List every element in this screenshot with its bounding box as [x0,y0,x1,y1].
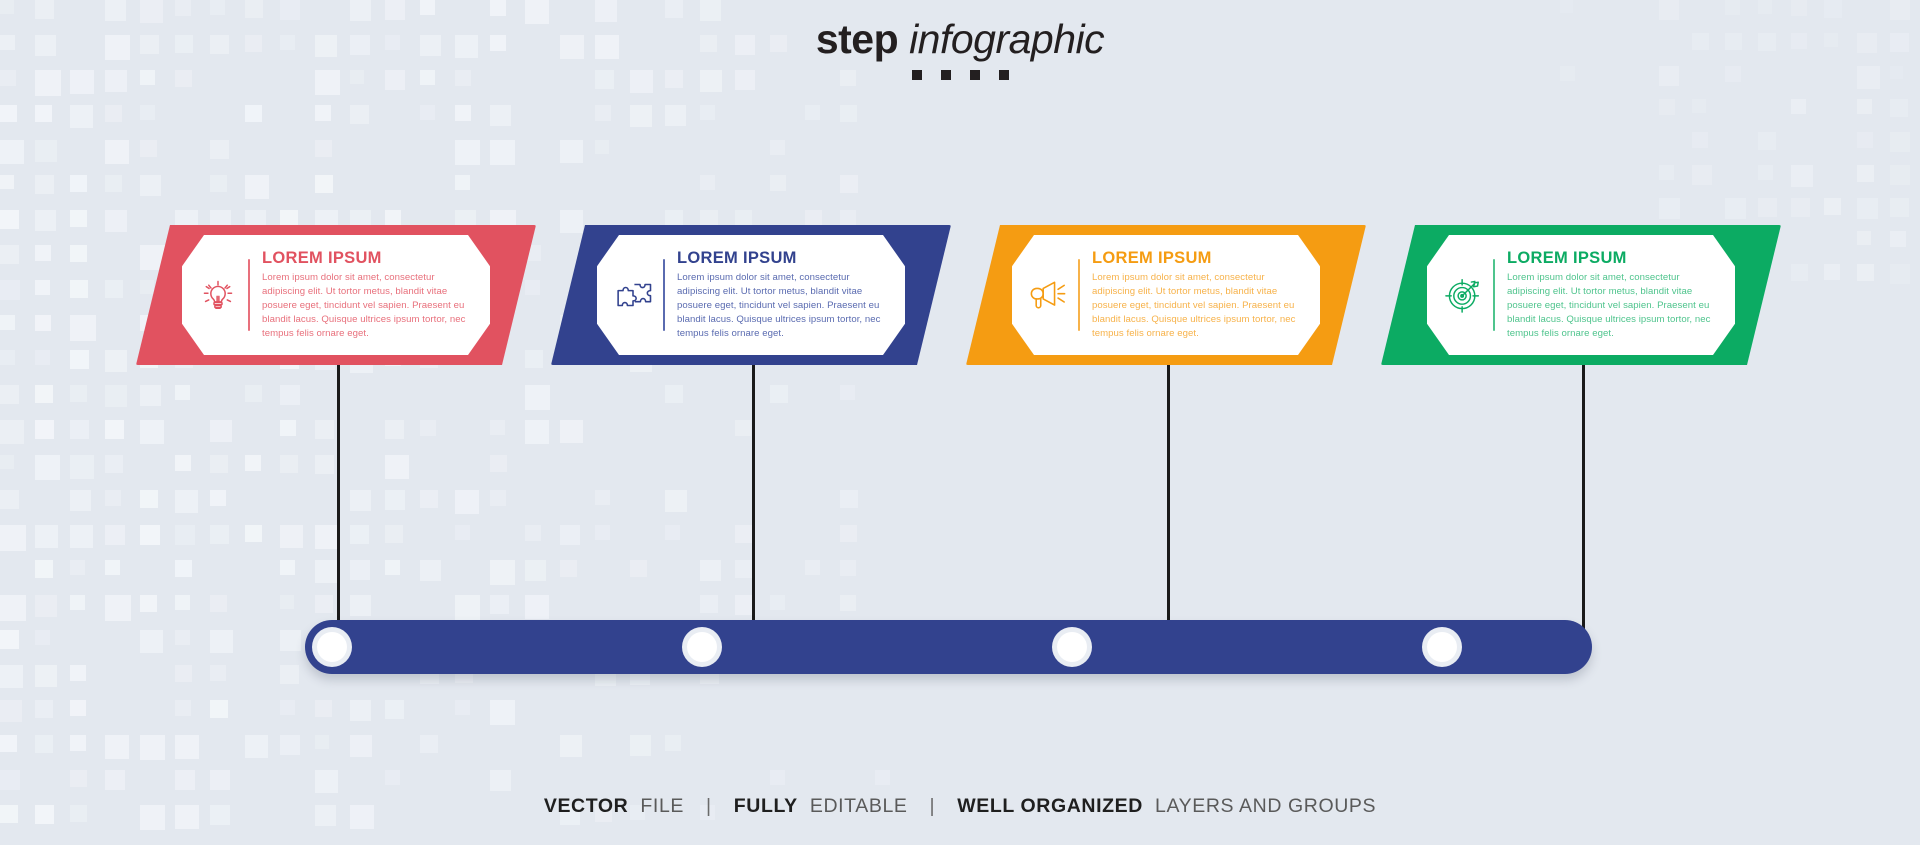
mosaic-square [840,175,858,193]
mosaic-square [35,280,50,295]
mosaic-square [105,490,121,506]
mosaic-square [35,175,54,194]
title-dot [999,70,1009,80]
mosaic-square [35,525,58,548]
mosaic-square [0,140,24,164]
mosaic-square [175,490,198,513]
mosaic-square [105,595,131,621]
mosaic-square [105,525,125,545]
mosaic-square [490,140,515,165]
footer-credits: VECTOR FILE | FULLY EDITABLE | WELL ORGA… [0,795,1920,818]
mosaic-square [105,350,127,372]
mosaic-square [140,420,164,444]
mosaic-square [0,595,26,621]
mosaic-square [35,315,51,331]
connector-line [337,365,340,635]
mosaic-square [1857,198,1878,219]
step-divider [248,259,250,331]
mosaic-square [595,105,611,121]
mosaic-square [70,385,87,402]
mosaic-square [0,245,19,264]
mosaic-square [210,420,232,442]
mosaic-square [1659,198,1680,219]
mosaic-square [315,595,333,613]
step-text-block: LOREM IPSUMLorem ipsum dolor sit amet, c… [677,249,891,342]
mosaic-square [70,700,86,716]
mosaic-square [315,175,333,193]
timeline-node-2[interactable] [687,632,717,662]
mosaic-square [175,735,199,759]
mosaic-square [455,175,470,190]
footer-organized-light: LAYERS AND GROUPS [1155,795,1376,817]
mosaic-square [595,490,610,505]
mosaic-square [1890,198,1909,217]
mosaic-square [350,525,369,544]
mosaic-square [70,210,87,227]
mosaic-square [735,525,753,543]
mosaic-square [525,595,549,619]
mosaic-square [1758,0,1772,14]
step-text-block: LOREM IPSUMLorem ipsum dolor sit amet, c… [1507,249,1721,342]
mosaic-square [35,245,51,261]
mosaic-square [1758,132,1776,150]
step-card-4[interactable]: LOREM IPSUMLorem ipsum dolor sit amet, c… [1381,225,1781,365]
mosaic-square [735,420,751,436]
step-divider [1078,259,1080,331]
mosaic-square [490,770,511,791]
mosaic-square [140,105,155,120]
mosaic-square [455,595,480,620]
step-title: LOREM IPSUM [677,249,887,268]
mosaic-square [280,455,298,473]
mosaic-square [35,455,60,480]
mosaic-square [70,455,94,479]
mosaic-square [35,0,54,19]
mosaic-square [665,385,683,403]
footer-fully-bold: FULLY [734,795,798,817]
mosaic-square [210,490,226,506]
title-italic: infographic [909,16,1104,62]
timeline-node-1[interactable] [317,632,347,662]
mosaic-square [315,140,332,157]
mosaic-square [35,630,50,645]
mosaic-square [70,770,87,787]
mosaic-square [210,455,228,473]
mosaic-square [665,525,680,540]
timeline-node-3[interactable] [1057,632,1087,662]
mosaic-square [0,315,15,330]
mosaic-square [455,490,479,514]
mosaic-square [280,630,301,651]
mosaic-square [770,770,785,785]
mosaic-square [455,140,480,165]
mosaic-square [1791,264,1808,281]
step-content-panel: LOREM IPSUMLorem ipsum dolor sit amet, c… [1427,235,1735,355]
mosaic-square [770,140,785,155]
step-description: Lorem ipsum dolor sit amet, consectetur … [262,271,472,342]
mosaic-square [210,630,233,653]
mosaic-square [0,175,14,189]
mosaic-square [35,385,53,403]
mosaic-square [140,490,158,508]
mosaic-square [315,105,331,121]
mosaic-square [245,455,261,471]
mosaic-square [350,700,371,721]
mosaic-square [280,420,296,436]
mosaic-square [175,770,195,790]
mosaic-square [420,420,436,436]
mosaic-square [35,735,53,753]
mosaic-square [105,280,123,298]
mosaic-square [490,455,507,472]
puzzle-piece-icon [607,269,659,321]
mosaic-square [1857,99,1872,114]
mosaic-square [280,665,299,684]
mosaic-square [525,385,550,410]
mosaic-square [210,175,227,192]
mosaic-square [0,455,14,469]
mosaic-square [420,0,435,15]
footer-separator-2: | [914,795,952,818]
mosaic-square [1890,132,1910,152]
footer-vector-light: FILE [640,795,684,817]
mosaic-square [70,595,85,610]
mosaic-square [210,595,227,612]
mosaic-square [840,490,858,508]
mosaic-square [455,700,470,715]
mosaic-square [385,770,400,785]
mosaic-square [210,700,228,718]
mosaic-square [840,595,856,611]
mosaic-square [1659,165,1674,180]
mosaic-square [420,735,438,753]
mosaic-square [1659,99,1675,115]
mosaic-square [1692,132,1708,148]
mosaic-square [0,105,17,122]
mosaic-square [1758,198,1777,217]
mosaic-square [175,665,192,682]
mosaic-square [0,700,22,722]
mosaic-square [35,420,54,439]
title-dot [970,70,980,80]
mosaic-square [595,525,610,540]
mosaic-square [1857,165,1874,182]
step-card-3[interactable]: LOREM IPSUMLorem ipsum dolor sit amet, c… [966,225,1366,365]
target-arrow-icon [1437,269,1489,321]
step-content-panel: LOREM IPSUMLorem ipsum dolor sit amet, c… [1012,235,1320,355]
mosaic-square [1692,99,1706,113]
mosaic-square [245,175,269,199]
connector-line [752,365,755,635]
mosaic-square [70,350,89,369]
mosaic-square [630,560,647,577]
mosaic-square [140,140,157,157]
mosaic-square [385,490,405,510]
mosaic-square [420,560,441,581]
mosaic-square [1725,0,1740,15]
mosaic-square [140,525,160,545]
mosaic-square [105,420,124,439]
mosaic-square [525,420,549,444]
mosaic-square [630,735,651,756]
mosaic-square [0,0,14,14]
mosaic-square [560,560,577,577]
mosaic-square [490,105,511,126]
infographic-canvas: step infographic LOREM IPSUMLorem ipsum … [0,0,1920,845]
mosaic-square [210,140,229,159]
mosaic-square [70,665,86,681]
mosaic-square [525,560,546,581]
mosaic-square [0,280,20,300]
mosaic-square [35,140,57,162]
mosaic-square [35,105,52,122]
mosaic-square [1890,0,1910,20]
mosaic-square [70,490,91,511]
mosaic-square [420,105,435,120]
step-description: Lorem ipsum dolor sit amet, consectetur … [1507,271,1717,342]
mosaic-square [140,735,165,760]
mosaic-square [70,315,96,341]
mosaic-square [1857,132,1873,148]
mosaic-square [840,210,856,226]
title-dot [941,70,951,80]
mosaic-square [350,560,370,580]
mosaic-square [490,560,515,585]
footer-fully-light: EDITABLE [810,795,908,817]
mosaic-square [140,595,157,612]
mosaic-background-left [0,0,1000,845]
mosaic-square [1857,264,1874,281]
mosaic-square [175,455,191,471]
footer-organized-bold: WELL ORGANIZED [957,795,1143,817]
mosaic-square [0,385,19,404]
mosaic-square [280,0,300,20]
mosaic-square [1725,198,1746,219]
mosaic-square [175,630,190,645]
step-description: Lorem ipsum dolor sit amet, consectetur … [1092,271,1302,342]
mosaic-square [0,420,24,444]
step-title: LOREM IPSUM [1507,249,1717,268]
mosaic-square [315,770,338,793]
mosaic-square [245,735,268,758]
title-strong: step [816,16,898,62]
mosaic-square [70,525,93,548]
step-title: LOREM IPSUM [262,249,472,268]
connector-line [1167,365,1170,635]
mosaic-square [105,560,120,575]
lightbulb-icon [192,269,244,321]
mosaic-square [210,0,225,15]
mosaic-square [140,630,163,653]
mosaic-square [280,560,295,575]
mosaic-square [105,175,122,192]
mosaic-square [0,350,15,365]
mosaic-square [1758,165,1773,180]
step-content-panel: LOREM IPSUMLorem ipsum dolor sit amet, c… [182,235,490,355]
mosaic-square [490,420,505,435]
mosaic-square [455,105,471,121]
mosaic-square [560,735,582,757]
mosaic-square [0,630,19,649]
mosaic-square [700,560,721,581]
mosaic-square [175,560,192,577]
mosaic-square [700,175,715,190]
mosaic-square [105,140,129,164]
mosaic-square [735,560,753,578]
mosaic-square [840,560,856,576]
mosaic-square [280,525,303,548]
mosaic-square [70,245,87,262]
mosaic-square [35,700,53,718]
mosaic-square [105,770,125,790]
mosaic-square [315,560,338,583]
mosaic-square [0,770,20,790]
mosaic-square [1560,0,1573,13]
step-title: LOREM IPSUM [1092,249,1302,268]
mosaic-square [805,105,820,120]
mosaic-square [35,595,57,617]
mosaic-square [175,595,190,610]
mosaic-square [35,560,53,578]
mosaic-square [385,210,401,226]
mosaic-square [560,140,583,163]
mosaic-square [105,455,123,473]
mosaic-square [280,735,300,755]
mosaic-square [210,665,226,681]
mosaic-square [140,175,161,196]
mosaic-square [35,350,50,365]
mosaic-square [490,490,506,506]
step-card-1[interactable]: LOREM IPSUMLorem ipsum dolor sit amet, c… [136,225,536,365]
mosaic-square [315,455,334,474]
mosaic-square [665,0,683,18]
mosaic-square [350,490,371,511]
mosaic-square [1890,231,1906,247]
mosaic-square [1824,198,1841,215]
mosaic-square [1824,264,1840,280]
mosaic-square [385,560,400,575]
mosaic-square [315,700,332,717]
megaphone-icon [1022,269,1074,321]
mosaic-square [280,595,294,609]
mosaic-square [1791,99,1806,114]
mosaic-square [315,420,334,439]
mosaic-square [35,665,57,687]
mosaic-square [1857,231,1871,245]
mosaic-square [1890,99,1908,117]
mosaic-square [70,280,88,298]
mosaic-square [350,735,372,757]
mosaic-square [665,490,687,512]
mosaic-square [560,420,583,443]
timeline-bar [305,620,1592,674]
mosaic-square [490,700,515,725]
mosaic-square [210,770,230,790]
mosaic-square [35,210,56,231]
footer-separator-1: | [690,795,728,818]
mosaic-square [1791,0,1807,16]
mosaic-square [70,735,86,751]
mosaic-square [770,385,788,403]
mosaic-square [0,665,23,688]
mosaic-square [665,105,686,126]
mosaic-square [665,735,681,751]
mosaic-square [280,700,295,715]
mosaic-square [875,770,890,785]
mosaic-square [840,525,857,542]
mosaic-square [385,455,409,479]
timeline-node-4[interactable] [1427,632,1457,662]
mosaic-square [70,560,85,575]
mosaic-square [210,525,229,544]
mosaic-square [280,385,300,405]
mosaic-square [1791,165,1813,187]
step-card-2[interactable]: LOREM IPSUMLorem ipsum dolor sit amet, c… [551,225,951,365]
mosaic-square [595,140,609,154]
mosaic-square [700,105,715,120]
step-divider [1493,259,1495,331]
mosaic-square [770,175,786,191]
mosaic-square [0,735,17,752]
mosaic-square [770,595,785,610]
mosaic-square [385,420,404,439]
mosaic-square [700,595,718,613]
mosaic-square [175,525,195,545]
step-content-panel: LOREM IPSUMLorem ipsum dolor sit amet, c… [597,235,905,355]
mosaic-square [245,0,263,18]
step-text-block: LOREM IPSUMLorem ipsum dolor sit amet, c… [262,249,476,342]
mosaic-square [385,525,403,543]
mosaic-square [105,210,127,232]
mosaic-square [385,700,404,719]
mosaic-square [175,0,191,16]
mosaic-square [420,490,438,508]
mosaic-square [105,105,122,122]
mosaic-square [560,525,580,545]
mosaic-square [105,735,129,759]
mosaic-square [805,560,820,575]
mosaic-square [70,105,93,128]
title-dot [912,70,922,80]
mosaic-square [0,490,19,509]
mosaic-square [70,175,87,192]
mosaic-square [630,105,652,127]
mosaic-square [70,420,89,439]
connector-line [1582,365,1585,635]
mosaic-square [0,210,19,229]
mosaic-square [525,525,541,541]
mosaic-square [350,105,369,124]
mosaic-square [1824,0,1842,18]
mosaic-square [455,525,470,540]
mosaic-square [245,385,262,402]
mosaic-square [490,595,509,614]
mosaic-square [1791,198,1810,217]
mosaic-square [840,385,855,400]
mosaic-square [1659,0,1679,20]
mosaic-square [840,105,857,122]
mosaic-square [175,700,191,716]
mosaic-square [140,385,161,406]
mosaic-square [105,385,127,407]
mosaic-square [385,0,405,20]
title-dots [0,70,1920,80]
step-divider [663,259,665,331]
mosaic-square [350,595,371,616]
step-description: Lorem ipsum dolor sit amet, consectetur … [677,271,887,342]
mosaic-square [245,105,262,122]
mosaic-square [245,525,262,542]
